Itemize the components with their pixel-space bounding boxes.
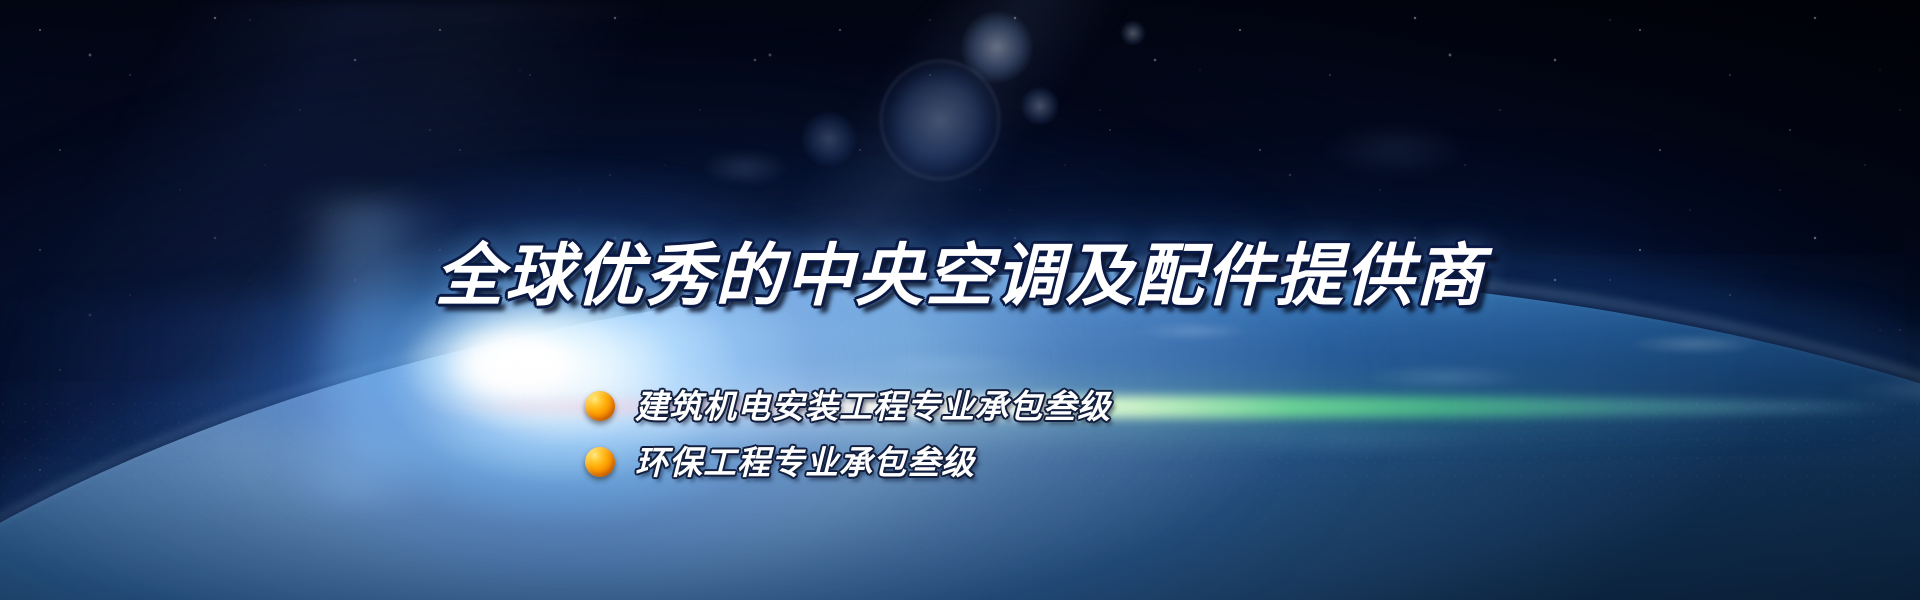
orange-sphere-bullet-icon: [585, 447, 615, 477]
bullet-item-2: 环保工程专业承包叁级: [585, 434, 1111, 490]
bullet-item-2-label: 环保工程专业承包叁级: [635, 446, 975, 479]
bullet-item-1-label: 建筑机电安装工程专业承包叁级: [635, 390, 1111, 423]
banner-bullet-list: 建筑机电安装工程专业承包叁级 环保工程专业承包叁级: [585, 378, 1111, 490]
banner-content: 全球优秀的中央空调及配件提供商 建筑机电安装工程专业承包叁级 环保工程专业承包叁…: [0, 0, 1920, 600]
banner-headline: 全球优秀的中央空调及配件提供商: [0, 243, 1920, 311]
hero-banner: 全球优秀的中央空调及配件提供商 建筑机电安装工程专业承包叁级 环保工程专业承包叁…: [0, 0, 1920, 600]
orange-sphere-bullet-icon: [585, 391, 615, 421]
bullet-item-1: 建筑机电安装工程专业承包叁级: [585, 378, 1111, 434]
